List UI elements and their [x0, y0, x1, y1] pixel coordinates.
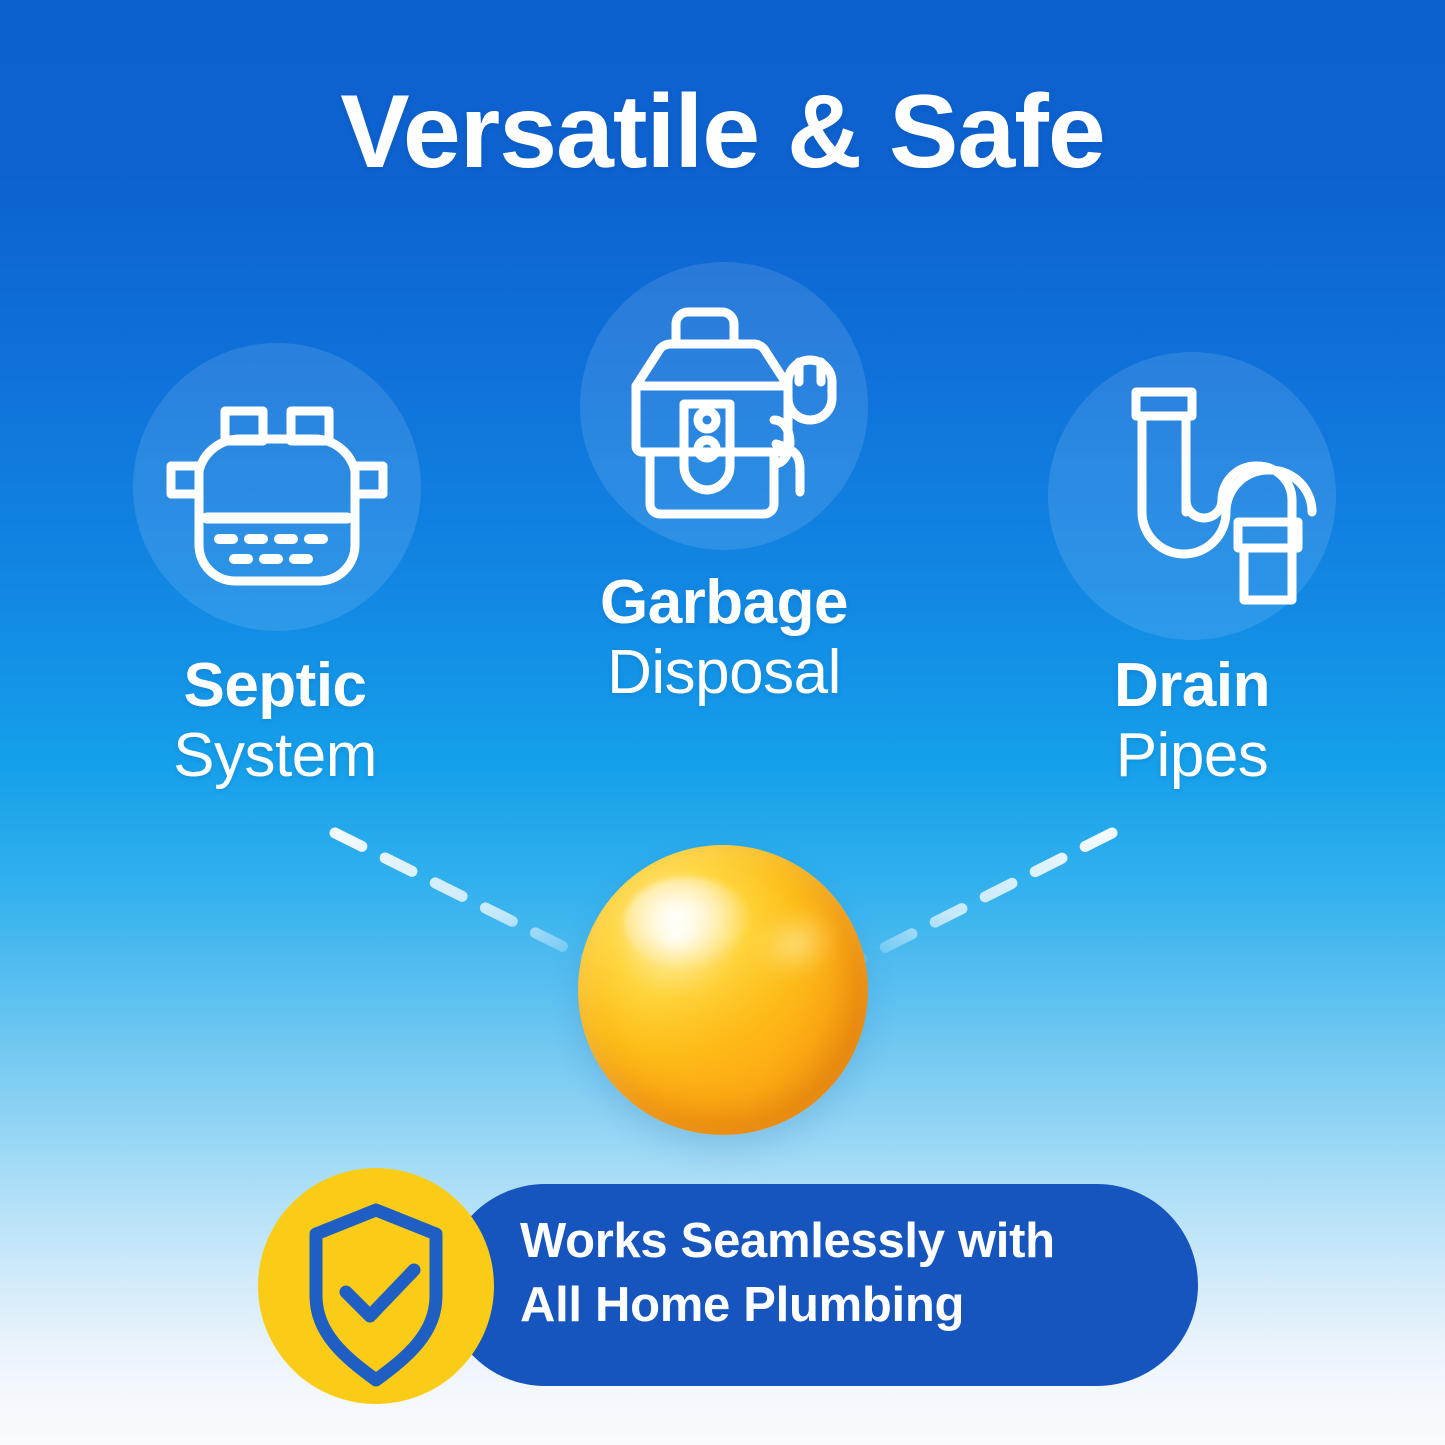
septic-label-lead: Septic — [45, 655, 505, 717]
garbage-label: Garbage Disposal — [494, 572, 954, 704]
septic-label-sub: System — [45, 725, 505, 787]
drain-label-sub: Pipes — [962, 725, 1422, 787]
bottom-banner: Works Seamlessly with All Home Plumbing — [258, 1168, 1198, 1404]
drain-label-lead: Drain — [962, 655, 1422, 717]
shield-badge — [258, 1168, 494, 1404]
garbage-icon-circle — [580, 262, 868, 550]
drain-pipe-trap-icon — [1048, 352, 1336, 640]
shield-check-icon — [258, 1168, 494, 1404]
garbage-label-sub: Disposal — [494, 642, 954, 704]
drain-icon-circle — [1048, 352, 1336, 640]
banner-line-1: Works Seamlessly with — [520, 1210, 1180, 1274]
banner-line-2: All Home Plumbing — [520, 1274, 1180, 1338]
banner-text: Works Seamlessly with All Home Plumbing — [520, 1210, 1180, 1337]
septic-icon-circle — [133, 343, 421, 631]
gel-pod-highlight — [624, 877, 752, 970]
connector-line-septic — [335, 833, 600, 965]
septic-label: Septic System — [45, 655, 505, 787]
garbage-label-lead: Garbage — [494, 572, 954, 634]
product-gel-pod — [578, 845, 868, 1135]
infographic-canvas: Versatile & Safe — [0, 0, 1445, 1445]
garbage-disposal-icon — [580, 262, 868, 550]
drain-label: Drain Pipes — [962, 655, 1422, 787]
septic-tank-icon — [133, 343, 421, 631]
connector-line-drain — [850, 833, 1112, 965]
